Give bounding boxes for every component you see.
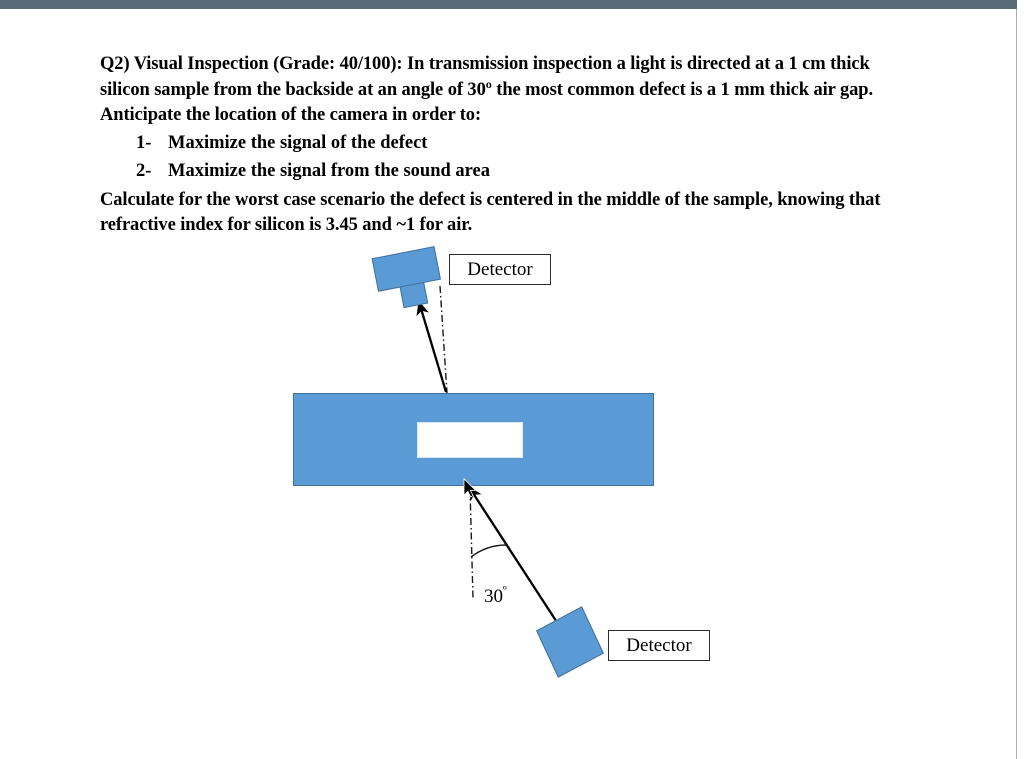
list-item-label: Maximize the signal from the sound area xyxy=(168,157,490,185)
page-right-border xyxy=(1016,9,1017,759)
angle-value: 30 xyxy=(484,586,503,607)
list-item: 2- Maximize the signal from the sound ar… xyxy=(100,157,906,185)
bottom-detector-shape xyxy=(536,606,604,678)
lower-normal-line xyxy=(470,489,473,598)
list-item-marker: 1- xyxy=(136,129,151,157)
mouse-pointer-icon xyxy=(463,478,477,498)
app-window: Q2) Visual Inspection (Grade: 40/100): I… xyxy=(0,0,1024,759)
angle-unit: º xyxy=(503,584,507,598)
top-detector-label: Detector xyxy=(449,254,551,285)
list-item: 1- Maximize the signal of the defect xyxy=(100,129,906,157)
list-item-marker: 2- xyxy=(136,157,151,185)
list-item-label: Maximize the signal of the defect xyxy=(168,129,427,157)
air-gap-defect xyxy=(417,422,523,458)
camera-body xyxy=(372,246,441,292)
silicon-sample-slab xyxy=(293,393,654,486)
upper-normal-line xyxy=(440,286,447,393)
angle-arc xyxy=(471,545,508,557)
top-detector-camera-icon xyxy=(372,246,445,309)
lower-ray-arrow xyxy=(469,487,562,630)
camera-lens xyxy=(400,282,429,308)
closing-paragraph: Calculate for the worst case scenario th… xyxy=(100,188,900,239)
window-title-bar xyxy=(0,0,1017,9)
intro-paragraph: Q2) Visual Inspection (Grade: 40/100): I… xyxy=(100,52,900,129)
angle-label: 30º xyxy=(484,586,507,608)
numbered-list: 1- Maximize the signal of the defect 2- … xyxy=(100,129,906,185)
upper-ray-arrow xyxy=(419,302,446,392)
bottom-detector-label: Detector xyxy=(608,630,710,661)
document-text-block: Q2) Visual Inspection (Grade: 40/100): I… xyxy=(100,52,906,239)
